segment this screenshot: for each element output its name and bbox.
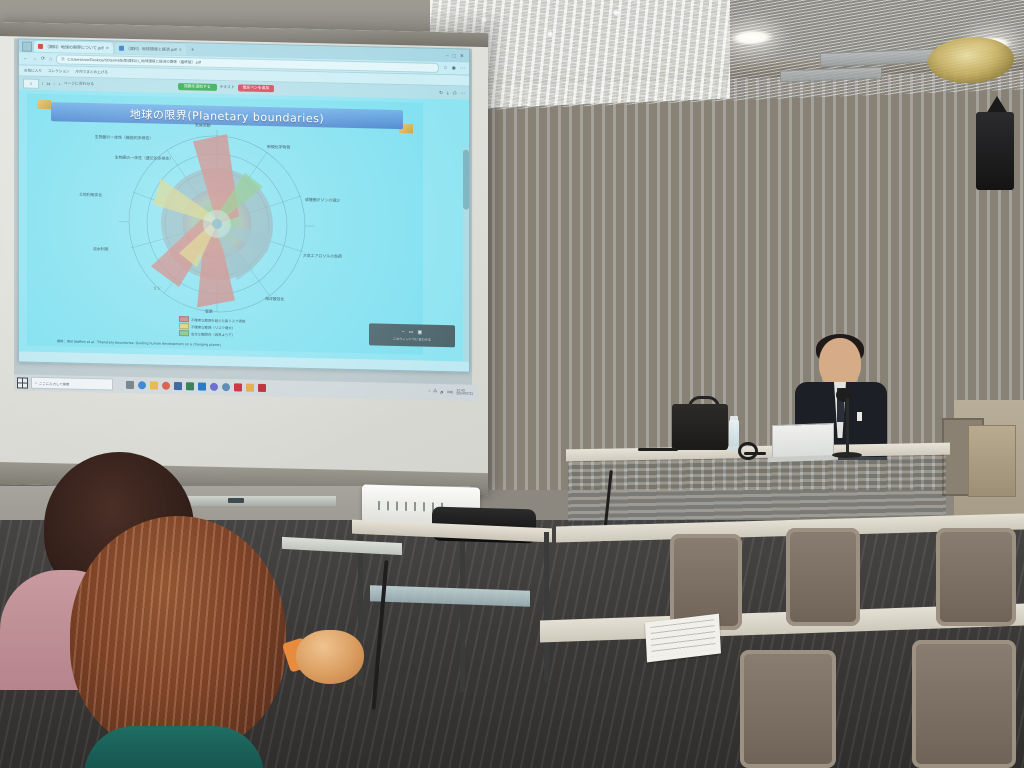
recessed-ceiling-light — [730, 29, 774, 47]
pdf-scrollbar-thumb[interactable] — [463, 150, 469, 210]
podium — [968, 425, 1016, 497]
radar-label-aerosol: 大気エアロゾルの負荷 — [303, 254, 342, 259]
windows-start-icon[interactable] — [17, 377, 28, 388]
radar-label-nitrogen: 窒素 — [205, 310, 213, 315]
draw-button[interactable]: 描画を追加する — [178, 83, 217, 91]
window-curtain — [470, 70, 1024, 490]
attendee-front-center — [70, 516, 286, 752]
file-icon: 🗎 — [61, 56, 64, 63]
tray-chevron-icon[interactable]: ^ — [429, 390, 431, 394]
minimize-button[interactable]: – — [446, 53, 449, 59]
projected-desktop: （資料）地球の限界について.pdf ✕ （資料）地球環境と経済.pdf ✕ + … — [14, 38, 472, 400]
handout-text-lines — [650, 619, 715, 657]
pdf-page-viewport[interactable]: 地球の限界(Planetary boundaries) — [19, 89, 469, 361]
pdf-favicon — [38, 44, 43, 49]
radar-label-ozone: 成層圏オゾンの減少 — [305, 198, 340, 203]
microphone-head — [836, 388, 852, 402]
browser-menu-icon[interactable]: ⋯ — [460, 65, 465, 71]
gold-ceiling-fixture — [928, 36, 1014, 85]
pdf-icon[interactable] — [234, 383, 242, 391]
wall-speaker — [976, 112, 1014, 190]
slide-corner-decoration — [37, 100, 51, 109]
water-bottle — [729, 420, 739, 450]
acrobat-icon[interactable] — [258, 384, 266, 392]
teams-icon[interactable] — [210, 383, 218, 391]
minimize-icon[interactable]: − — [402, 329, 405, 335]
attendee-hair-strands — [70, 516, 286, 752]
chrome-icon[interactable] — [162, 382, 170, 390]
forward-icon[interactable]: → — [32, 56, 37, 62]
folder-icon[interactable] — [246, 384, 254, 392]
legend-label: 不確実な範囲（リスク増大） — [191, 324, 235, 330]
network-icon[interactable]: 🖧 — [433, 389, 437, 395]
window-icon — [22, 41, 32, 51]
table-leg — [544, 532, 549, 682]
save-icon[interactable]: ⤓ — [447, 90, 449, 95]
bookmark-star-icon[interactable]: ☆ — [443, 65, 447, 71]
screen-tray — [176, 496, 336, 506]
conference-room-scene: （資料）地球の限界について.pdf ✕ （資料）地球環境と経済.pdf ✕ + … — [0, 0, 1024, 768]
window-controls: – □ ✕ — [446, 53, 466, 59]
search-icon: ⌕ — [35, 381, 37, 385]
projection-screen: （資料）地球の限界について.pdf ✕ （資料）地球環境と経済.pdf ✕ + … — [0, 22, 488, 495]
marker — [228, 498, 244, 503]
radar-label-novel-entities: 新規化学物質 — [267, 145, 290, 150]
radar-label-phosphorus: リン — [153, 286, 161, 291]
front-desk-panel — [568, 449, 946, 528]
tan-handbag — [296, 630, 364, 684]
zoom-in-button[interactable]: + — [59, 82, 61, 86]
table-leg — [460, 542, 465, 692]
presentation-slide: 地球の限界(Planetary boundaries) — [27, 94, 423, 355]
pdf-page-controls: 1 / 14 − + ページに合わせる — [23, 78, 94, 90]
profile-icon[interactable]: ◉ — [452, 65, 456, 71]
radar-chart-svg — [67, 125, 367, 328]
explorer-icon[interactable] — [150, 381, 158, 389]
edge-icon[interactable] — [138, 381, 146, 389]
upholstered-chair — [912, 640, 1016, 768]
taskbar-app-icons — [126, 381, 266, 392]
close-icon[interactable]: ✕ — [106, 45, 109, 50]
taskbar-search-input[interactable]: ⌕ ここに入力して検索 — [31, 377, 113, 391]
planetary-boundaries-radar-chart: 気候変動 新規化学物質 成層圏オゾンの減少 大気エアロゾルの負荷 海洋酸性化 窒… — [67, 125, 367, 328]
new-tab-button[interactable]: + — [188, 47, 198, 53]
settings-icon[interactable] — [222, 383, 230, 391]
reload-icon[interactable]: ⟳ — [41, 56, 45, 62]
close-icon[interactable]: ✕ — [179, 47, 182, 52]
legend-swatch-safe — [179, 330, 189, 336]
maximize-button[interactable]: □ — [453, 53, 456, 59]
word-icon[interactable] — [174, 382, 182, 390]
upholstered-chair — [936, 528, 1016, 626]
excel-icon[interactable] — [186, 382, 194, 390]
highlight-button[interactable]: 蛍光ペンを追加 — [238, 84, 275, 92]
task-view-icon[interactable] — [126, 381, 134, 389]
radar-label-ocean-acidification: 海洋酸性化 — [265, 297, 284, 302]
pdf-favicon-blue — [119, 46, 124, 51]
outlook-icon[interactable] — [198, 382, 206, 390]
chart-legend: 不確実な範囲を超えた高リスク領域 不確実な範囲（リスク増大） 安全な範囲内（境界… — [179, 316, 245, 338]
fit-page-button[interactable]: ページに合わせる — [64, 81, 94, 87]
tab-title: （資料）地球の限界について.pdf — [45, 44, 104, 51]
search-placeholder: ここに入力して検索 — [39, 380, 69, 386]
ceiling-vent — [820, 48, 942, 67]
bookmark-item[interactable]: お気に入り — [24, 68, 42, 73]
zoom-out-button[interactable]: − — [53, 82, 55, 86]
presenter-head — [819, 338, 861, 388]
address-bar-value: C:/Users/user/Desktop/SDGs/R6年度/資料01_地球環… — [67, 57, 201, 65]
pdf-more-icon[interactable]: ⋯ — [460, 90, 465, 96]
radar-label-climate: 気候変動 — [195, 123, 211, 128]
radar-label-freshwater: 淡水利用 — [93, 247, 109, 252]
bookmark-item[interactable]: 庁内でまとめ上げる — [76, 69, 108, 75]
pdf-page-input[interactable]: 1 — [23, 78, 39, 88]
microphone-base — [832, 452, 862, 458]
ime-icon[interactable]: IME — [447, 390, 453, 394]
volume-icon[interactable]: 🔊 — [440, 390, 444, 394]
pdf-page-total: 14 — [46, 82, 50, 86]
legend-swatch-uncertain — [179, 323, 189, 329]
tooltip-label: このウィンドウに合わせる — [393, 336, 431, 342]
desk-cable — [738, 442, 758, 460]
browser-tab-inactive[interactable]: （資料）地球環境と経済.pdf ✕ — [115, 43, 186, 56]
upholstered-chair — [740, 650, 836, 768]
rotate-icon[interactable]: ↻ — [439, 89, 443, 95]
tab-title: （資料）地球環境と経済.pdf — [126, 45, 177, 52]
attendee-front-shoulder — [84, 726, 264, 768]
clock-date: 2024/07/11 — [456, 392, 473, 396]
upholstered-chair — [786, 528, 860, 626]
legend-label: 不確実な範囲を超えた高リスク領域 — [191, 317, 245, 323]
shoulder-bag — [672, 404, 728, 450]
taskbar-system-tray: ^ 🖧 🔊 IME 12:43 2024/07/11 — [429, 388, 475, 396]
ceiling-vent — [780, 67, 882, 83]
slide-source-citation: 資料：Will Steffen et al.「Planetary boundar… — [57, 338, 223, 347]
home-icon[interactable]: ⌂ — [49, 56, 52, 62]
browser-tab-active[interactable]: （資料）地球の限界について.pdf ✕ — [34, 41, 113, 54]
pdf-annotation-controls: 描画を追加する テキスト 蛍光ペンを追加 — [178, 83, 274, 92]
restore-icon[interactable]: ▭ — [409, 329, 414, 335]
legend-swatch-high-risk — [179, 316, 189, 322]
desk-cable — [638, 448, 678, 451]
tooltip-icon-row: − ▭ ▣ — [402, 329, 422, 335]
radar-label-land-use: 土地利用変化 — [79, 193, 102, 198]
text-button[interactable]: テキスト — [220, 85, 235, 90]
microphone-stand — [846, 398, 849, 456]
legend-item: 安全な範囲内（境界より下） — [179, 330, 245, 338]
pdf-page-separator: / — [42, 81, 43, 85]
bookmark-item[interactable]: コレクション — [48, 69, 70, 74]
presenter-badge — [857, 412, 862, 421]
browser-window[interactable]: （資料）地球の限界について.pdf ✕ （資料）地球環境と経済.pdf ✕ + … — [18, 38, 470, 372]
legend-label: 安全な範囲内（境界より下） — [191, 331, 235, 337]
close-window-button[interactable]: ✕ — [460, 53, 464, 59]
maximize-icon[interactable]: ▣ — [417, 329, 422, 335]
window-snap-tooltip[interactable]: − ▭ ▣ このウィンドウに合わせる — [369, 323, 455, 347]
back-icon[interactable]: ← — [23, 56, 28, 62]
windows-taskbar: ⌕ ここに入力して検索 — [14, 374, 478, 401]
taskbar-clock[interactable]: 12:43 2024/07/11 — [456, 389, 473, 396]
print-icon[interactable]: ⎙ — [453, 90, 457, 95]
pdf-actions: ↻ ⤓ ⎙ ⋯ — [439, 89, 465, 96]
